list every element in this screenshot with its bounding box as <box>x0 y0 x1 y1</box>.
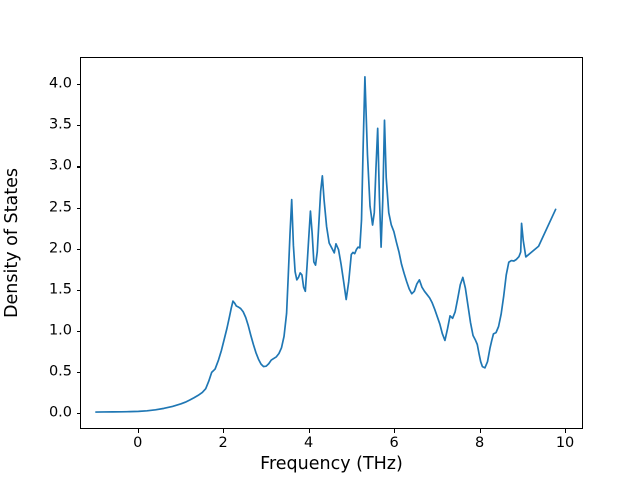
x-axis-label: Frequency (THz) <box>80 454 583 474</box>
y-tick-label: 2.0 <box>49 240 72 257</box>
x-tick-label: 10 <box>556 435 574 452</box>
y-tick-label: 1.0 <box>49 323 72 340</box>
y-tick-mark <box>77 208 81 209</box>
y-tick-mark <box>77 331 81 332</box>
x-tick-label: 0 <box>133 435 142 452</box>
dos-line-series <box>81 58 582 428</box>
y-tick-label: 0.0 <box>49 405 72 422</box>
y-tick-label: 3.5 <box>49 117 72 134</box>
y-tick-mark <box>77 249 81 250</box>
dos-chart-figure: 0246810 0.00.51.01.52.02.53.03.54.0 Freq… <box>0 0 640 480</box>
y-tick-mark <box>77 125 81 126</box>
x-tick-mark <box>480 429 481 433</box>
x-tick-label: 6 <box>389 435 398 452</box>
y-tick-mark <box>77 372 81 373</box>
y-tick-label: 3.0 <box>49 158 72 175</box>
y-tick-mark <box>77 166 81 167</box>
x-tick-label: 4 <box>304 435 313 452</box>
x-tick-mark <box>565 429 566 433</box>
x-tick-mark <box>394 429 395 433</box>
x-tick-label: 2 <box>219 435 228 452</box>
dos-polyline <box>96 77 556 412</box>
y-axis-label-text: Density of States <box>2 168 22 318</box>
plot-area <box>80 57 583 429</box>
x-tick-label: 8 <box>475 435 484 452</box>
x-tick-mark <box>223 429 224 433</box>
y-tick-mark <box>77 84 81 85</box>
y-axis-label: Density of States <box>0 57 24 429</box>
y-tick-mark <box>77 413 81 414</box>
y-tick-label: 4.0 <box>49 76 72 93</box>
x-tick-mark <box>138 429 139 433</box>
y-tick-mark <box>77 290 81 291</box>
x-tick-mark <box>309 429 310 433</box>
y-tick-label: 0.5 <box>49 364 72 381</box>
y-tick-label: 1.5 <box>49 281 72 298</box>
y-tick-label: 2.5 <box>49 199 72 216</box>
